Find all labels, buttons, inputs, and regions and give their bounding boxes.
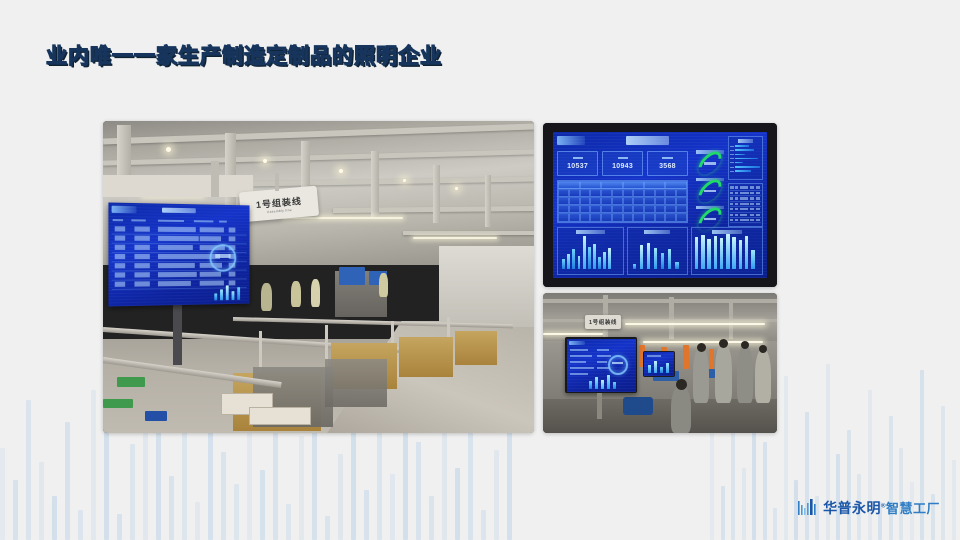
decoration-bar bbox=[377, 422, 382, 540]
decoration-bar bbox=[416, 442, 421, 540]
decoration-bar bbox=[117, 514, 122, 540]
decoration-bar bbox=[742, 468, 746, 540]
brand-name: 华普永明 bbox=[823, 500, 881, 516]
assembly-line-sign-subtext: Assembly line bbox=[267, 207, 292, 213]
chart-section-output bbox=[557, 227, 623, 275]
light-strip bbox=[543, 333, 603, 335]
dashboard-title bbox=[162, 208, 196, 214]
worker bbox=[693, 347, 709, 403]
table-row bbox=[730, 202, 761, 207]
hanger-rod bbox=[211, 161, 219, 197]
decoration-bar bbox=[941, 406, 945, 540]
col-header bbox=[113, 219, 123, 221]
decoration-bar bbox=[390, 474, 395, 540]
chart-capacity-trend bbox=[691, 227, 763, 275]
overhead-duct bbox=[103, 175, 253, 197]
decoration-bar bbox=[721, 486, 725, 540]
light-strip bbox=[625, 323, 765, 325]
gauge-plan-rate bbox=[696, 211, 724, 227]
foreground-bench bbox=[543, 399, 777, 433]
kpi-card: 10537 bbox=[557, 151, 598, 176]
column bbox=[433, 165, 440, 223]
blue-tray bbox=[145, 411, 167, 421]
decoration-bar bbox=[26, 400, 31, 540]
progress-ring bbox=[608, 355, 628, 375]
decoration-bar bbox=[455, 468, 460, 540]
mini-bar bbox=[220, 289, 223, 300]
decoration-bar bbox=[773, 508, 777, 540]
tablet-dashboard bbox=[644, 352, 674, 376]
decoration-bar bbox=[13, 480, 18, 540]
table-row bbox=[730, 197, 761, 202]
table-row bbox=[730, 208, 761, 213]
worker bbox=[737, 345, 753, 403]
table-row bbox=[730, 213, 761, 218]
decoration-bar bbox=[299, 436, 304, 540]
column bbox=[669, 297, 674, 339]
decoration-bar bbox=[325, 516, 330, 540]
assembly-line-scene: 1号组装线 bbox=[543, 293, 777, 433]
shelf-rack bbox=[325, 359, 387, 407]
decoration-bar bbox=[429, 496, 434, 540]
decoration-bar bbox=[91, 390, 96, 540]
worker bbox=[715, 343, 732, 403]
worker-head bbox=[697, 343, 706, 352]
factory-hall-scene: 1号组装线 Assembly line bbox=[103, 121, 534, 433]
worker-head bbox=[759, 345, 767, 353]
display-dashboard bbox=[567, 339, 636, 392]
decoration-bar bbox=[952, 460, 956, 540]
production-display-monitor bbox=[565, 337, 637, 393]
order-list-table bbox=[728, 183, 762, 227]
assembly-line-sign: 1号组装线 bbox=[585, 315, 621, 329]
decoration-bar bbox=[78, 510, 83, 540]
decoration-bar bbox=[39, 462, 44, 540]
sub-brand-name: 智慧工厂 bbox=[886, 501, 940, 516]
kpi-value: 3568 bbox=[659, 163, 676, 170]
tool-arm bbox=[683, 345, 689, 369]
ceiling-lamp bbox=[403, 179, 406, 182]
worker-head bbox=[741, 341, 749, 349]
mini-bar bbox=[214, 293, 217, 300]
dashboard-logo bbox=[557, 136, 585, 145]
worker-seated bbox=[671, 385, 691, 433]
beam bbox=[543, 319, 777, 322]
storage-bin bbox=[339, 267, 365, 285]
decoration-bar bbox=[195, 502, 200, 540]
decoration-bar bbox=[338, 454, 343, 540]
carton-box bbox=[249, 407, 311, 425]
production-dashboard: 10537 10943 3568 bbox=[553, 132, 767, 278]
worker bbox=[291, 281, 301, 307]
photo-assembly-line-workers: 1号组装线 bbox=[543, 293, 777, 433]
page-title: 业内唯一一家生产制造定制品的照明企业 bbox=[46, 40, 442, 70]
light-strip bbox=[413, 237, 497, 239]
decoration-bar bbox=[130, 444, 135, 540]
dashboard-screen-bezel: 10537 10943 3568 bbox=[543, 123, 777, 287]
chart-downtime bbox=[627, 227, 688, 275]
worker-head bbox=[719, 339, 728, 348]
display-dashboard bbox=[108, 203, 249, 307]
column bbox=[371, 151, 379, 217]
mini-bar bbox=[226, 285, 229, 300]
workstation-tablet bbox=[643, 351, 675, 377]
decoration-bar bbox=[847, 430, 851, 540]
decoration-bar bbox=[481, 510, 486, 540]
decoration-bar bbox=[169, 476, 174, 540]
photo-main-assembly-hall: 1号组装线 Assembly line bbox=[103, 121, 534, 433]
decoration-bar bbox=[507, 416, 512, 540]
tool-arm bbox=[709, 349, 714, 369]
mini-bar bbox=[237, 287, 240, 300]
dashboard-title bbox=[626, 136, 669, 145]
column bbox=[485, 175, 491, 227]
col-header bbox=[158, 220, 184, 222]
production-display-monitor bbox=[108, 203, 249, 307]
dashboard-logo bbox=[112, 206, 137, 214]
sign-hanger bbox=[275, 173, 279, 191]
decoration-bar bbox=[763, 442, 767, 540]
kpi-value: 10943 bbox=[612, 163, 633, 170]
kpi-card: 10943 bbox=[602, 151, 643, 176]
decoration-bar bbox=[899, 448, 903, 540]
decoration-bar bbox=[784, 376, 788, 540]
table-header-row bbox=[730, 186, 761, 191]
col-header bbox=[194, 220, 213, 222]
photo-production-dashboard: 10537 10943 3568 bbox=[543, 123, 777, 287]
wood-panel bbox=[399, 337, 453, 377]
ceiling-lamp bbox=[263, 159, 267, 163]
decoration-bar bbox=[52, 496, 57, 540]
monitor-stand bbox=[597, 393, 602, 419]
back-wall bbox=[439, 246, 534, 327]
decoration-bar bbox=[234, 484, 239, 540]
worker bbox=[261, 283, 272, 311]
worker bbox=[755, 349, 771, 403]
decoration-bar bbox=[836, 454, 840, 540]
wood-panel bbox=[455, 331, 497, 365]
decoration-bar bbox=[260, 470, 265, 540]
worker-head bbox=[676, 379, 687, 390]
gauge-fpy bbox=[696, 183, 724, 199]
decoration-bar bbox=[442, 428, 447, 540]
col-header bbox=[131, 219, 145, 221]
beam bbox=[403, 231, 534, 235]
beam bbox=[543, 299, 777, 303]
ceiling-lamp bbox=[455, 187, 458, 190]
decoration-bar bbox=[221, 452, 226, 540]
worker bbox=[311, 279, 320, 307]
table-row bbox=[730, 191, 761, 196]
kpi-card: 3568 bbox=[647, 151, 688, 176]
decoration-bar bbox=[364, 490, 369, 540]
ceiling-lamp bbox=[166, 147, 171, 152]
green-tray bbox=[103, 399, 133, 408]
kpi-value: 10537 bbox=[567, 163, 588, 170]
bar-chart-monogram-icon bbox=[798, 499, 818, 517]
progress-ring bbox=[209, 244, 236, 272]
worker bbox=[379, 273, 388, 297]
decoration-bar bbox=[889, 416, 893, 540]
equipment-case bbox=[623, 397, 653, 415]
decoration-bar bbox=[286, 504, 291, 540]
footer-logo-text: 华普永明®智慧工厂 bbox=[823, 498, 940, 518]
decoration-bar bbox=[710, 420, 714, 540]
light-strip bbox=[283, 217, 403, 219]
decoration-bar bbox=[65, 422, 70, 540]
decoration-bar bbox=[805, 412, 809, 540]
table-row bbox=[730, 218, 761, 223]
decoration-bar bbox=[182, 430, 187, 540]
chart-line-ranking bbox=[728, 136, 762, 180]
decoration-bar bbox=[0, 448, 5, 540]
monitor-stand bbox=[173, 305, 182, 365]
production-data-table bbox=[557, 180, 688, 222]
footer-logo: 华普永明®智慧工厂 bbox=[798, 498, 940, 518]
gauge-oee bbox=[696, 155, 724, 171]
mini-bar bbox=[232, 291, 235, 300]
column bbox=[729, 299, 733, 339]
ceiling-lamp bbox=[339, 169, 343, 173]
col-header bbox=[219, 221, 227, 223]
page-title-text: 业内唯一一家生产制造定制品的照明企业 bbox=[46, 40, 442, 70]
green-tray bbox=[117, 377, 145, 387]
decoration-bar bbox=[494, 450, 499, 540]
